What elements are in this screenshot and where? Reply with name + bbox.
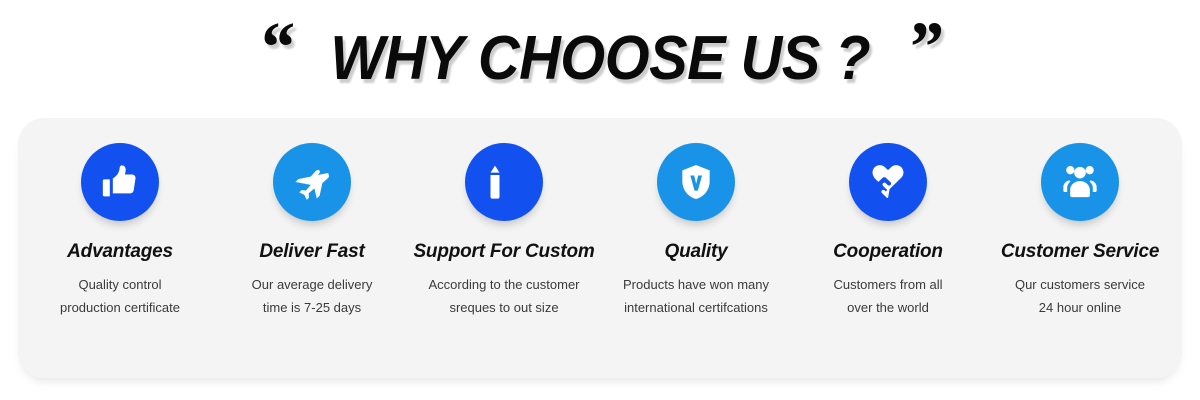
page-title: WHY CHOOSE US ? bbox=[330, 28, 870, 90]
feature-description-line: Customers from all bbox=[793, 274, 983, 297]
features-panel: Advantages Quality control production ce… bbox=[18, 118, 1182, 378]
feature-description-line: Our average delivery bbox=[217, 274, 407, 297]
feature-title: Cooperation bbox=[833, 242, 943, 261]
feature-description: Products have won many international cer… bbox=[601, 274, 791, 320]
pencil-ruler-icon-badge bbox=[465, 143, 543, 221]
feature-description-line: over the world bbox=[793, 297, 983, 320]
feature-title: Customer Service bbox=[1001, 242, 1159, 261]
open-quote-mark: “ bbox=[258, 11, 294, 83]
feature-title: Quality bbox=[664, 242, 727, 261]
feature-item-cooperation[interactable]: Cooperation Customers from all over the … bbox=[792, 118, 984, 320]
page-heading: “ WHY CHOOSE US ? ” bbox=[0, 16, 1200, 102]
feature-description-line: 24 hour online bbox=[985, 297, 1175, 320]
people-group-icon bbox=[1060, 162, 1100, 202]
close-quote-mark: ” bbox=[906, 11, 942, 83]
handshake-heart-icon bbox=[868, 162, 908, 202]
why-choose-us-banner: “ WHY CHOOSE US ? ” Advantages Quality c… bbox=[0, 0, 1200, 400]
handshake-heart-icon-badge bbox=[849, 143, 927, 221]
feature-item-advantages[interactable]: Advantages Quality control production ce… bbox=[24, 118, 216, 320]
feature-description-line: According to the customer bbox=[409, 274, 599, 297]
feature-item-quality[interactable]: Quality Products have won many internati… bbox=[600, 118, 792, 320]
feature-description: Customers from all over the world bbox=[793, 274, 983, 320]
feature-description-line: sreques to out size bbox=[409, 297, 599, 320]
feature-item-support-for-custom[interactable]: Support For Custom According to the cust… bbox=[408, 118, 600, 320]
airplane-icon bbox=[292, 162, 332, 202]
feature-description-line: time is 7-25 days bbox=[217, 297, 407, 320]
feature-description: Quality control production certificate bbox=[25, 274, 215, 320]
feature-title: Deliver Fast bbox=[259, 242, 364, 261]
feature-description: Qur customers service 24 hour online bbox=[985, 274, 1175, 320]
feature-description-line: Products have won many bbox=[601, 274, 791, 297]
feature-title: Advantages bbox=[67, 242, 173, 261]
feature-description-line: Qur customers service bbox=[985, 274, 1175, 297]
feature-description: Our average delivery time is 7-25 days bbox=[217, 274, 407, 320]
shield-check-icon bbox=[676, 162, 716, 202]
airplane-icon-badge bbox=[273, 143, 351, 221]
shield-check-icon-badge bbox=[657, 143, 735, 221]
feature-item-customer-service[interactable]: Customer Service Qur customers service 2… bbox=[984, 118, 1176, 320]
thumbs-up-icon-badge bbox=[81, 143, 159, 221]
thumbs-up-icon bbox=[100, 162, 140, 202]
feature-description-line: production certificate bbox=[25, 297, 215, 320]
feature-description-line: international certifcations bbox=[601, 297, 791, 320]
features-list: Advantages Quality control production ce… bbox=[18, 118, 1182, 378]
feature-title: Support For Custom bbox=[413, 242, 594, 261]
feature-description-line: Quality control bbox=[25, 274, 215, 297]
feature-description: According to the customer sreques to out… bbox=[409, 274, 599, 320]
people-group-icon-badge bbox=[1041, 143, 1119, 221]
feature-item-deliver-fast[interactable]: Deliver Fast Our average delivery time i… bbox=[216, 118, 408, 320]
pencil-ruler-icon bbox=[484, 162, 524, 202]
